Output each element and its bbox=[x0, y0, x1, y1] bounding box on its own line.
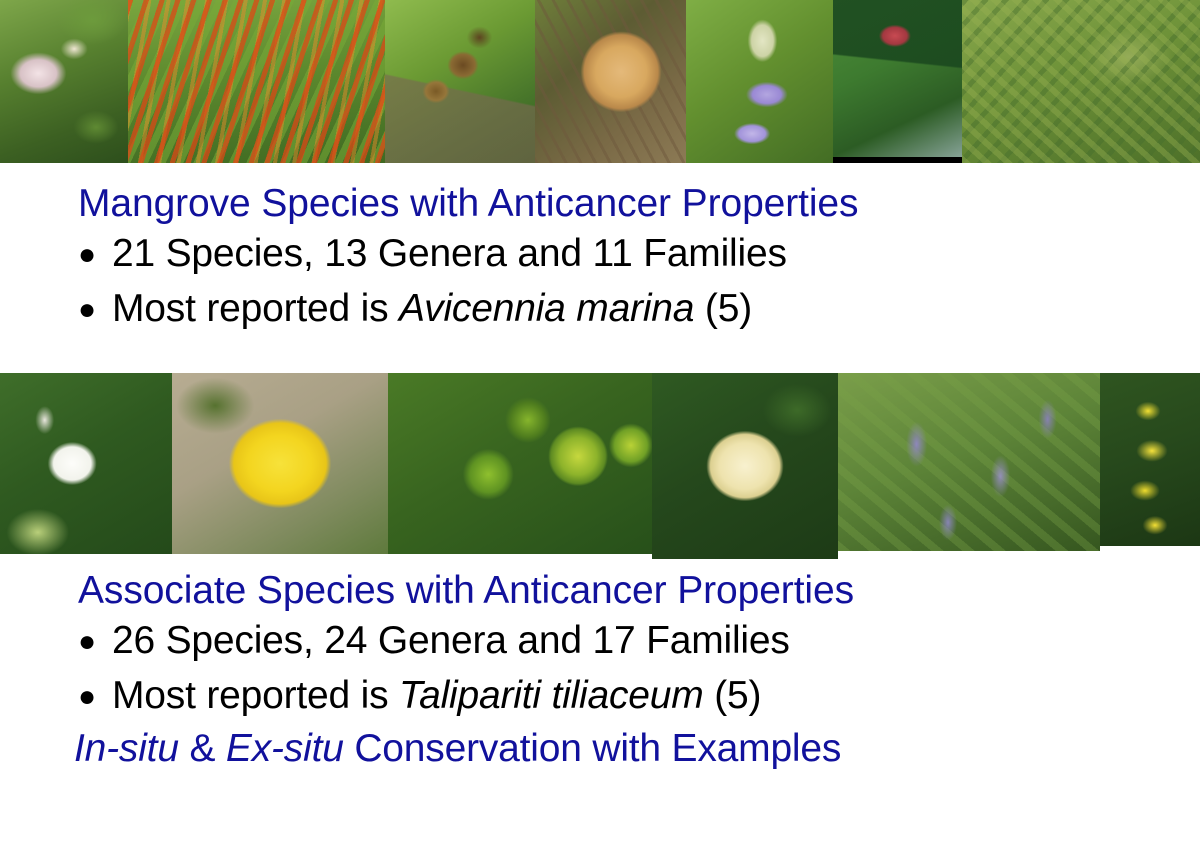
mangrove-bullet-counts-text: 21 Species, 13 Genera and 11 Families bbox=[112, 232, 787, 275]
associate-text-block: Associate Species with Anticancer Proper… bbox=[0, 568, 1200, 774]
photo-mangrove-brown-fruit: mangrove-large-brown-round-fruit bbox=[535, 0, 686, 163]
photo-mangrove-fern-red-fronds: mangrove-fern-red-orange-fronds bbox=[128, 0, 385, 163]
photo-associate-purple-spikes: associate-purple-flower-spikes-foliage bbox=[838, 373, 1100, 551]
bullet-marker-icon: ● bbox=[78, 670, 112, 724]
ex-situ-term: Ex-situ bbox=[226, 727, 344, 770]
photo-associate-green-fruits: associate-green-round-fruits-cluster bbox=[388, 373, 652, 554]
middle-photo-strip: associate-white-five-petal-flower associ… bbox=[0, 373, 1200, 559]
photo-mangrove-fruit-cluster: mangrove-fruit-cluster-on-branch bbox=[385, 0, 535, 163]
photo-associate-white-flower: associate-white-five-petal-flower bbox=[0, 373, 172, 554]
mangrove-bullet-most-reported: ●Most reported is Avicennia marina (5) bbox=[0, 282, 1200, 337]
photo-mangrove-flowering-shoot: mangrove-flowering-shoot-white-pink-flow… bbox=[0, 0, 128, 163]
photo-associate-yellow-raceme: associate-yellow-flower-raceme bbox=[1100, 373, 1200, 546]
mangrove-text-block: Mangrove Species with Anticancer Propert… bbox=[0, 181, 1200, 337]
associate-most-reported-prefix: Most reported is bbox=[112, 674, 399, 717]
mangrove-most-reported-count: (5) bbox=[694, 287, 752, 330]
conservation-rest-text: Conservation with Examples bbox=[344, 727, 842, 770]
associate-section-title: Associate Species with Anticancer Proper… bbox=[0, 568, 1200, 614]
mangrove-section-title: Mangrove Species with Anticancer Propert… bbox=[0, 181, 1200, 227]
mangrove-bullet-counts: ●21 Species, 13 Genera and 11 Families bbox=[0, 227, 1200, 282]
associate-bullet-counts: ●26 Species, 24 Genera and 17 Families bbox=[0, 614, 1200, 669]
associate-bullet-counts-text: 26 Species, 24 Genera and 17 Families bbox=[112, 619, 790, 662]
in-situ-term: In-situ bbox=[74, 727, 179, 770]
associate-most-reported-count: (5) bbox=[704, 674, 762, 717]
bullet-marker-icon: ● bbox=[78, 228, 112, 282]
closing-joiner: & bbox=[179, 727, 226, 770]
top-photo-strip: mangrove-flowering-shoot-white-pink-flow… bbox=[0, 0, 1200, 163]
associate-bullet-most-reported: ●Most reported is Talipariti tiliaceum (… bbox=[0, 669, 1200, 724]
mangrove-most-reported-prefix: Most reported is bbox=[112, 287, 399, 330]
bullet-marker-icon: ● bbox=[78, 615, 112, 669]
photo-mangrove-red-calyx-propagule: mangrove-red-calyx-with-propagule bbox=[833, 0, 962, 163]
photo-associate-cream-hibiscus: associate-cream-hibiscus-flower bbox=[652, 373, 838, 559]
slide-canvas: mangrove-flowering-shoot-white-pink-flow… bbox=[0, 0, 1200, 844]
photo-mangrove-shrub-canopy: mangrove-shrub-canopy-green-foliage bbox=[962, 0, 1200, 163]
photo-mangrove-purple-flower-spike: mangrove-purple-white-flower-spike bbox=[686, 0, 833, 163]
mangrove-species-binomial: Avicennia marina bbox=[399, 287, 694, 330]
conservation-closing-line: In-situ & Ex-situ Conservation with Exam… bbox=[0, 724, 1200, 774]
bullet-marker-icon: ● bbox=[78, 283, 112, 337]
associate-species-binomial: Talipariti tiliaceum bbox=[399, 674, 704, 717]
photo-associate-yellow-hibiscus: associate-yellow-hibiscus-flower bbox=[172, 373, 388, 554]
